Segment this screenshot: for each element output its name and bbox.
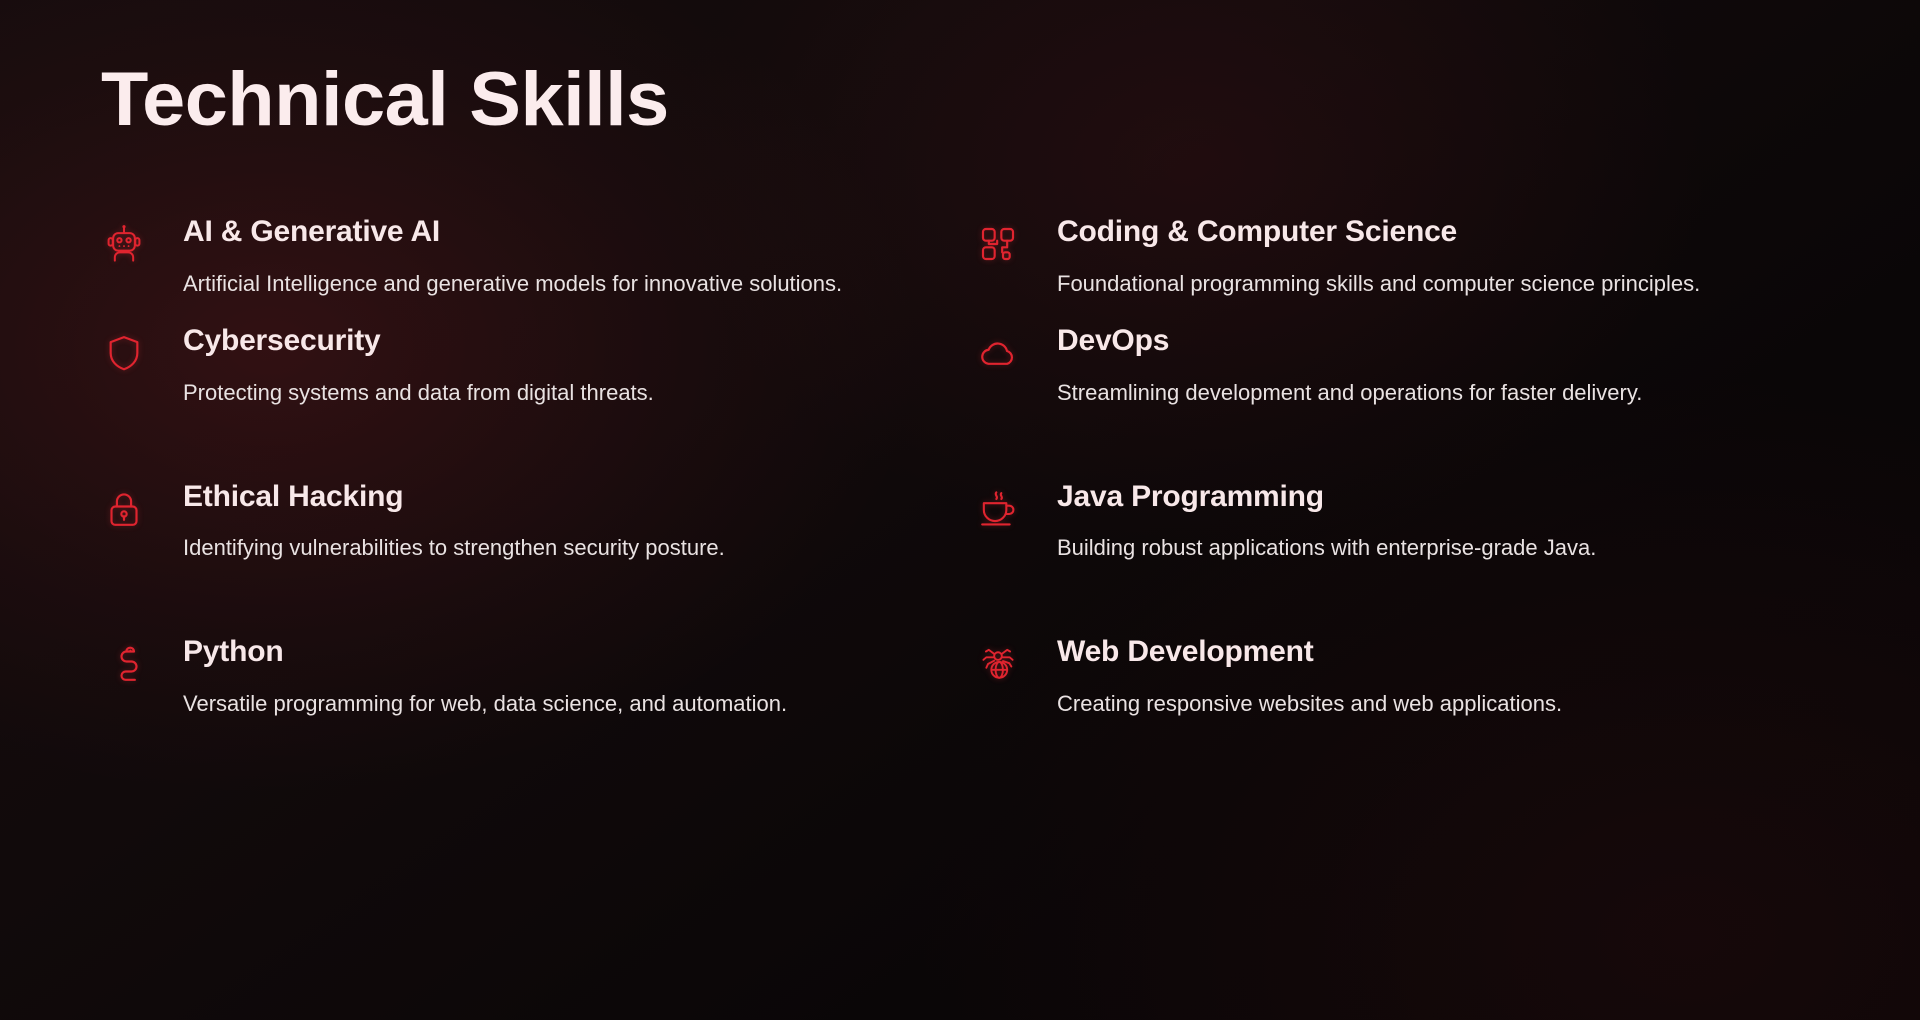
skill-description: Versatile programming for web, data scie… bbox=[183, 685, 943, 723]
skill-description: Artificial Intelligence and generative m… bbox=[183, 265, 943, 303]
snake-icon bbox=[101, 641, 147, 687]
skill-card-ethical-hacking[interactable]: Ethical Hacking Identifying vulnerabilit… bbox=[101, 480, 975, 589]
skill-body: Java Programming Building robust applica… bbox=[1057, 480, 1861, 567]
skill-body: AI & Generative AI Artificial Intelligen… bbox=[183, 215, 975, 302]
skill-body: Coding & Computer Science Foundational p… bbox=[1057, 215, 1861, 302]
skill-title: DevOps bbox=[1057, 324, 1861, 358]
skill-title: Cybersecurity bbox=[183, 324, 975, 358]
coffee-cup-icon bbox=[975, 486, 1021, 532]
skill-body: Python Versatile programming for web, da… bbox=[183, 635, 975, 722]
skill-description: Streamlining development and operations … bbox=[1057, 374, 1817, 412]
skill-title: Python bbox=[183, 635, 975, 669]
skill-description: Protecting systems and data from digital… bbox=[183, 374, 943, 412]
skill-body: Ethical Hacking Identifying vulnerabilit… bbox=[183, 480, 975, 567]
skill-card-devops[interactable]: DevOps Streamlining development and oper… bbox=[975, 324, 1861, 433]
qr-code-icon bbox=[975, 221, 1021, 267]
page-title: Technical Skills bbox=[101, 62, 669, 138]
technical-skills-page: Technical Skills bbox=[0, 0, 1920, 1020]
skill-title: Coding & Computer Science bbox=[1057, 215, 1861, 249]
skills-grid: AI & Generative AI Artificial Intelligen… bbox=[101, 215, 1861, 745]
skill-card-java-programming[interactable]: Java Programming Building robust applica… bbox=[975, 480, 1861, 589]
shield-icon bbox=[101, 330, 147, 376]
lock-icon bbox=[101, 486, 147, 532]
skill-card-python[interactable]: Python Versatile programming for web, da… bbox=[101, 635, 975, 744]
skill-title: AI & Generative AI bbox=[183, 215, 975, 249]
skill-title: Java Programming bbox=[1057, 480, 1861, 514]
skill-title: Web Development bbox=[1057, 635, 1861, 669]
robot-icon bbox=[101, 221, 147, 267]
spider-web-icon bbox=[975, 641, 1021, 687]
skill-description: Foundational programming skills and comp… bbox=[1057, 265, 1817, 303]
skill-description: Creating responsive websites and web app… bbox=[1057, 685, 1817, 723]
skill-card-cybersecurity[interactable]: Cybersecurity Protecting systems and dat… bbox=[101, 324, 975, 433]
skill-body: Web Development Creating responsive webs… bbox=[1057, 635, 1861, 722]
skill-card-coding-computer-science[interactable]: Coding & Computer Science Foundational p… bbox=[975, 215, 1861, 324]
skill-description: Identifying vulnerabilities to strengthe… bbox=[183, 529, 943, 567]
skill-body: DevOps Streamlining development and oper… bbox=[1057, 324, 1861, 411]
skill-card-web-development[interactable]: Web Development Creating responsive webs… bbox=[975, 635, 1861, 744]
skill-card-ai-generative-ai[interactable]: AI & Generative AI Artificial Intelligen… bbox=[101, 215, 975, 324]
skill-description: Building robust applications with enterp… bbox=[1057, 529, 1817, 567]
skill-body: Cybersecurity Protecting systems and dat… bbox=[183, 324, 975, 411]
cloud-icon bbox=[975, 330, 1021, 376]
skill-title: Ethical Hacking bbox=[183, 480, 975, 514]
